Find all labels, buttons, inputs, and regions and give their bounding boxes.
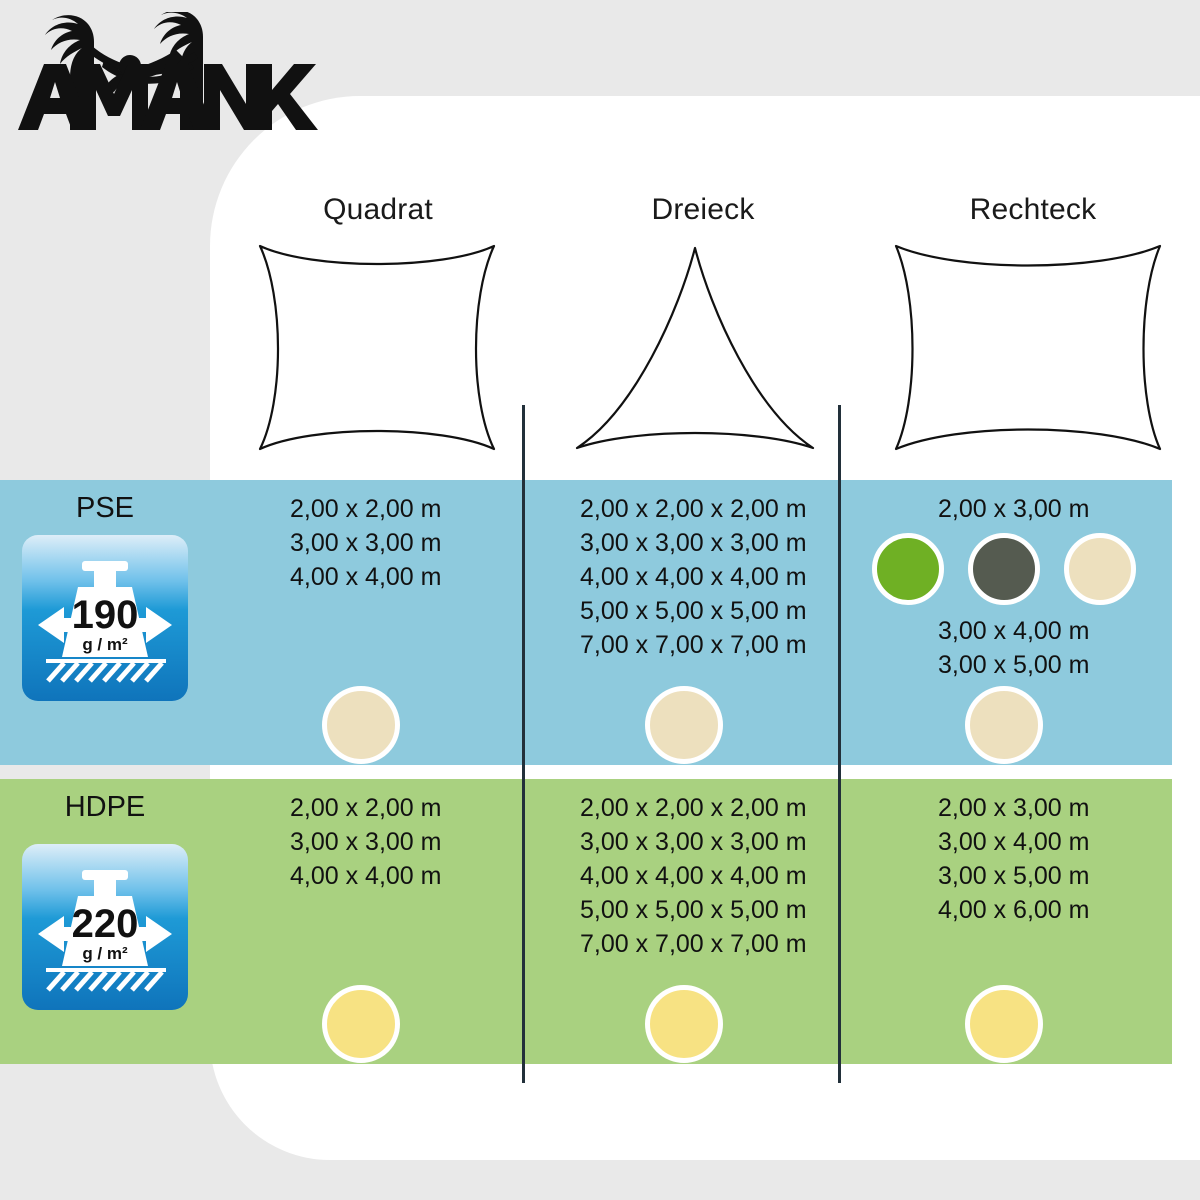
size-item: 3,00 x 3,00 x 3,00 m: [580, 526, 807, 560]
triangle-sunsail-shape-icon: [565, 240, 825, 455]
yellow-swatch[interactable]: [322, 985, 400, 1063]
size-item: 3,00 x 3,00 m: [290, 526, 441, 560]
material-label-hdpe: HDPE: [0, 791, 210, 824]
size-item: 2,00 x 2,00 m: [290, 791, 441, 825]
cream-swatch[interactable]: [965, 686, 1043, 764]
size-list-pse-rechteck-bottom: 3,00 x 4,00 m 3,00 x 5,00 m: [938, 614, 1089, 682]
size-item: 3,00 x 5,00 m: [938, 859, 1089, 893]
yellow-swatch[interactable]: [645, 985, 723, 1063]
yellow-swatch[interactable]: [965, 985, 1043, 1063]
size-list-hdpe-quadrat: 2,00 x 2,00 m 3,00 x 3,00 m 4,00 x 4,00 …: [290, 791, 441, 893]
badge-value-hdpe: 220: [72, 902, 139, 946]
size-list-hdpe-dreieck: 2,00 x 2,00 x 2,00 m 3,00 x 3,00 x 3,00 …: [580, 791, 807, 961]
weight-badge-hdpe: 220 g / m²: [20, 842, 190, 1012]
size-item: 2,00 x 2,00 m: [290, 492, 441, 526]
badge-value-pse: 190: [72, 593, 139, 637]
size-item: 4,00 x 4,00 x 4,00 m: [580, 560, 807, 594]
badge-unit-pse: g / m²: [82, 635, 128, 654]
column-header-dreieck: Dreieck: [563, 193, 843, 227]
weight-badge-pse: 190 g / m²: [20, 533, 190, 703]
size-item: 2,00 x 2,00 x 2,00 m: [580, 791, 807, 825]
size-item: 3,00 x 4,00 m: [938, 825, 1089, 859]
size-item: 7,00 x 7,00 x 7,00 m: [580, 628, 807, 662]
size-item: 7,00 x 7,00 x 7,00 m: [580, 927, 807, 961]
size-item: 2,00 x 3,00 m: [938, 791, 1089, 825]
column-header-rechteck: Rechteck: [888, 193, 1178, 227]
column-header-quadrat: Quadrat: [243, 193, 513, 227]
size-item: 4,00 x 4,00 m: [290, 859, 441, 893]
square-sunsail-shape-icon: [252, 240, 502, 455]
size-item: 5,00 x 5,00 x 5,00 m: [580, 594, 807, 628]
size-item: 4,00 x 4,00 m: [290, 560, 441, 594]
column-divider-2: [838, 405, 841, 1083]
size-list-pse-dreieck: 2,00 x 2,00 x 2,00 m 3,00 x 3,00 x 3,00 …: [580, 492, 807, 662]
size-item: 2,00 x 3,00 m: [938, 492, 1089, 526]
cream-swatch[interactable]: [322, 686, 400, 764]
size-item: 5,00 x 5,00 x 5,00 m: [580, 893, 807, 927]
green-swatch[interactable]: [872, 533, 944, 605]
size-item: 3,00 x 4,00 m: [938, 614, 1089, 648]
material-label-pse: PSE: [0, 492, 210, 525]
size-item: 4,00 x 6,00 m: [938, 893, 1089, 927]
size-item: 4,00 x 4,00 x 4,00 m: [580, 859, 807, 893]
amanka-logo: [8, 12, 318, 132]
size-list-pse-rechteck-top: 2,00 x 3,00 m: [938, 492, 1089, 526]
size-item: 3,00 x 5,00 m: [938, 648, 1089, 682]
size-list-hdpe-rechteck: 2,00 x 3,00 m 3,00 x 4,00 m 3,00 x 5,00 …: [938, 791, 1089, 927]
rectangle-sunsail-shape-icon: [888, 240, 1168, 455]
size-list-pse-quadrat: 2,00 x 2,00 m 3,00 x 3,00 m 4,00 x 4,00 …: [290, 492, 441, 594]
cream-swatch[interactable]: [1064, 533, 1136, 605]
column-divider-1: [522, 405, 525, 1083]
size-item: 3,00 x 3,00 m: [290, 825, 441, 859]
dark-grey-swatch[interactable]: [968, 533, 1040, 605]
product-comparison-chart: Quadrat Dreieck Rechteck PSE: [0, 0, 1200, 1200]
size-item: 2,00 x 2,00 x 2,00 m: [580, 492, 807, 526]
size-item: 3,00 x 3,00 x 3,00 m: [580, 825, 807, 859]
badge-unit-hdpe: g / m²: [82, 944, 128, 963]
cream-swatch[interactable]: [645, 686, 723, 764]
